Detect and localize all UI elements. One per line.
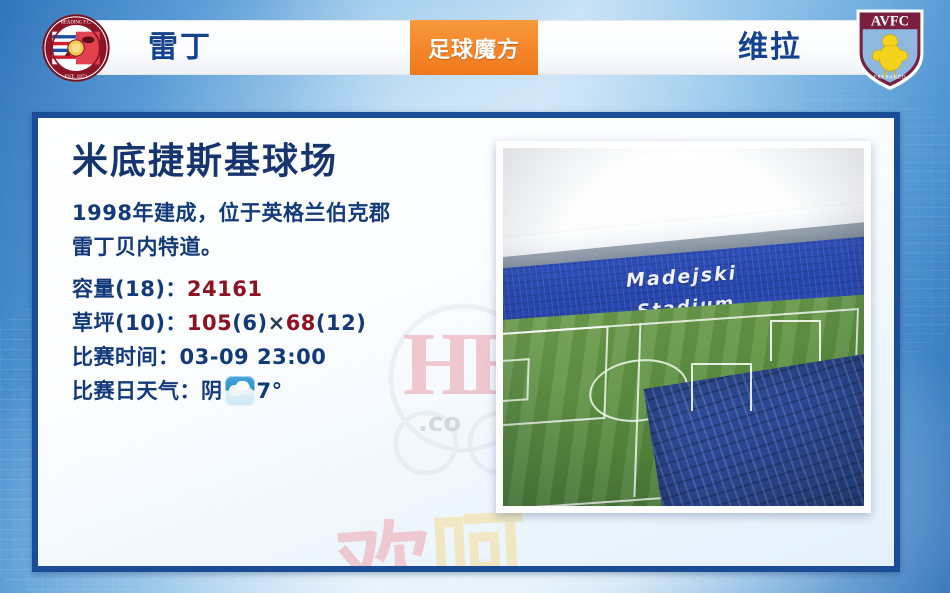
match-time-label: 比赛时间： — [72, 345, 180, 369]
capacity-row: 容量(18)：24161 — [72, 272, 472, 306]
home-crest-bottom-text: EST. 1871 — [65, 74, 88, 80]
pitch-width-rank: (12) — [316, 311, 366, 335]
home-team-bar — [78, 20, 423, 75]
cloudy-icon — [225, 376, 255, 406]
app-root: READING F.C. EST. 1871 雷丁 足球魔方 维拉 AVFC — [0, 0, 950, 593]
away-team-crest-icon[interactable]: AVFC PREPARED — [852, 6, 928, 92]
away-crest-motto: PREPARED — [874, 75, 907, 81]
match-header: READING F.C. EST. 1871 雷丁 足球魔方 维拉 AVFC — [0, 0, 950, 95]
stadium-description-line-2: 雷丁贝内特道。 — [72, 230, 472, 264]
pitch-label: 草坪(10)： — [72, 311, 187, 335]
site-logo[interactable]: 足球魔方 — [410, 20, 538, 75]
stadium-description-line-1: 1998年建成，位于英格兰伯克郡 — [72, 196, 472, 230]
away-crest-initials: AVFC — [871, 13, 909, 29]
pitch-multiply-symbol: × — [268, 311, 286, 335]
pitch-row: 草坪(10)：105(6)×68(12) — [72, 306, 472, 340]
pitch-width-value: 68 — [286, 311, 316, 335]
match-time-value: 03-09 23:00 — [180, 345, 327, 369]
capacity-label: 容量(18)： — [72, 277, 187, 301]
photo-vignette — [503, 148, 864, 506]
pitch-length-value: 105 — [187, 311, 232, 335]
weather-row: 比赛日天气：阴7° — [72, 374, 472, 408]
stadium-title: 米底捷斯基球场 — [72, 142, 472, 182]
watermark-char-one: 欢 — [331, 487, 436, 566]
stadium-info-panel: HH .co 呵 欢 米底捷斯基球场 1998年建成，位于英格兰伯克郡 雷丁贝内… — [32, 112, 900, 572]
weather-condition: 阴 — [201, 374, 223, 408]
watermark-domain: .co — [418, 408, 461, 438]
weather-temperature: 7° — [257, 374, 283, 408]
stadium-photo-frame[interactable]: Madejski Stadium — [496, 141, 871, 513]
stadium-photo: Madejski Stadium — [503, 148, 864, 506]
home-team-crest-icon[interactable]: READING F.C. EST. 1871 — [42, 14, 110, 82]
match-time-row: 比赛时间：03-09 23:00 — [72, 340, 472, 374]
pitch-length-rank: (6) — [232, 311, 267, 335]
weather-label: 比赛日天气： — [72, 374, 201, 408]
home-team-name: 雷丁 — [148, 20, 212, 75]
home-crest-top-text: READING F.C. — [61, 21, 91, 26]
stadium-details: 米底捷斯基球场 1998年建成，位于英格兰伯克郡 雷丁贝内特道。 容量(18)：… — [72, 142, 472, 408]
away-team-name: 维拉 — [738, 20, 802, 75]
capacity-value: 24161 — [187, 277, 263, 301]
away-team-bar — [528, 20, 873, 75]
